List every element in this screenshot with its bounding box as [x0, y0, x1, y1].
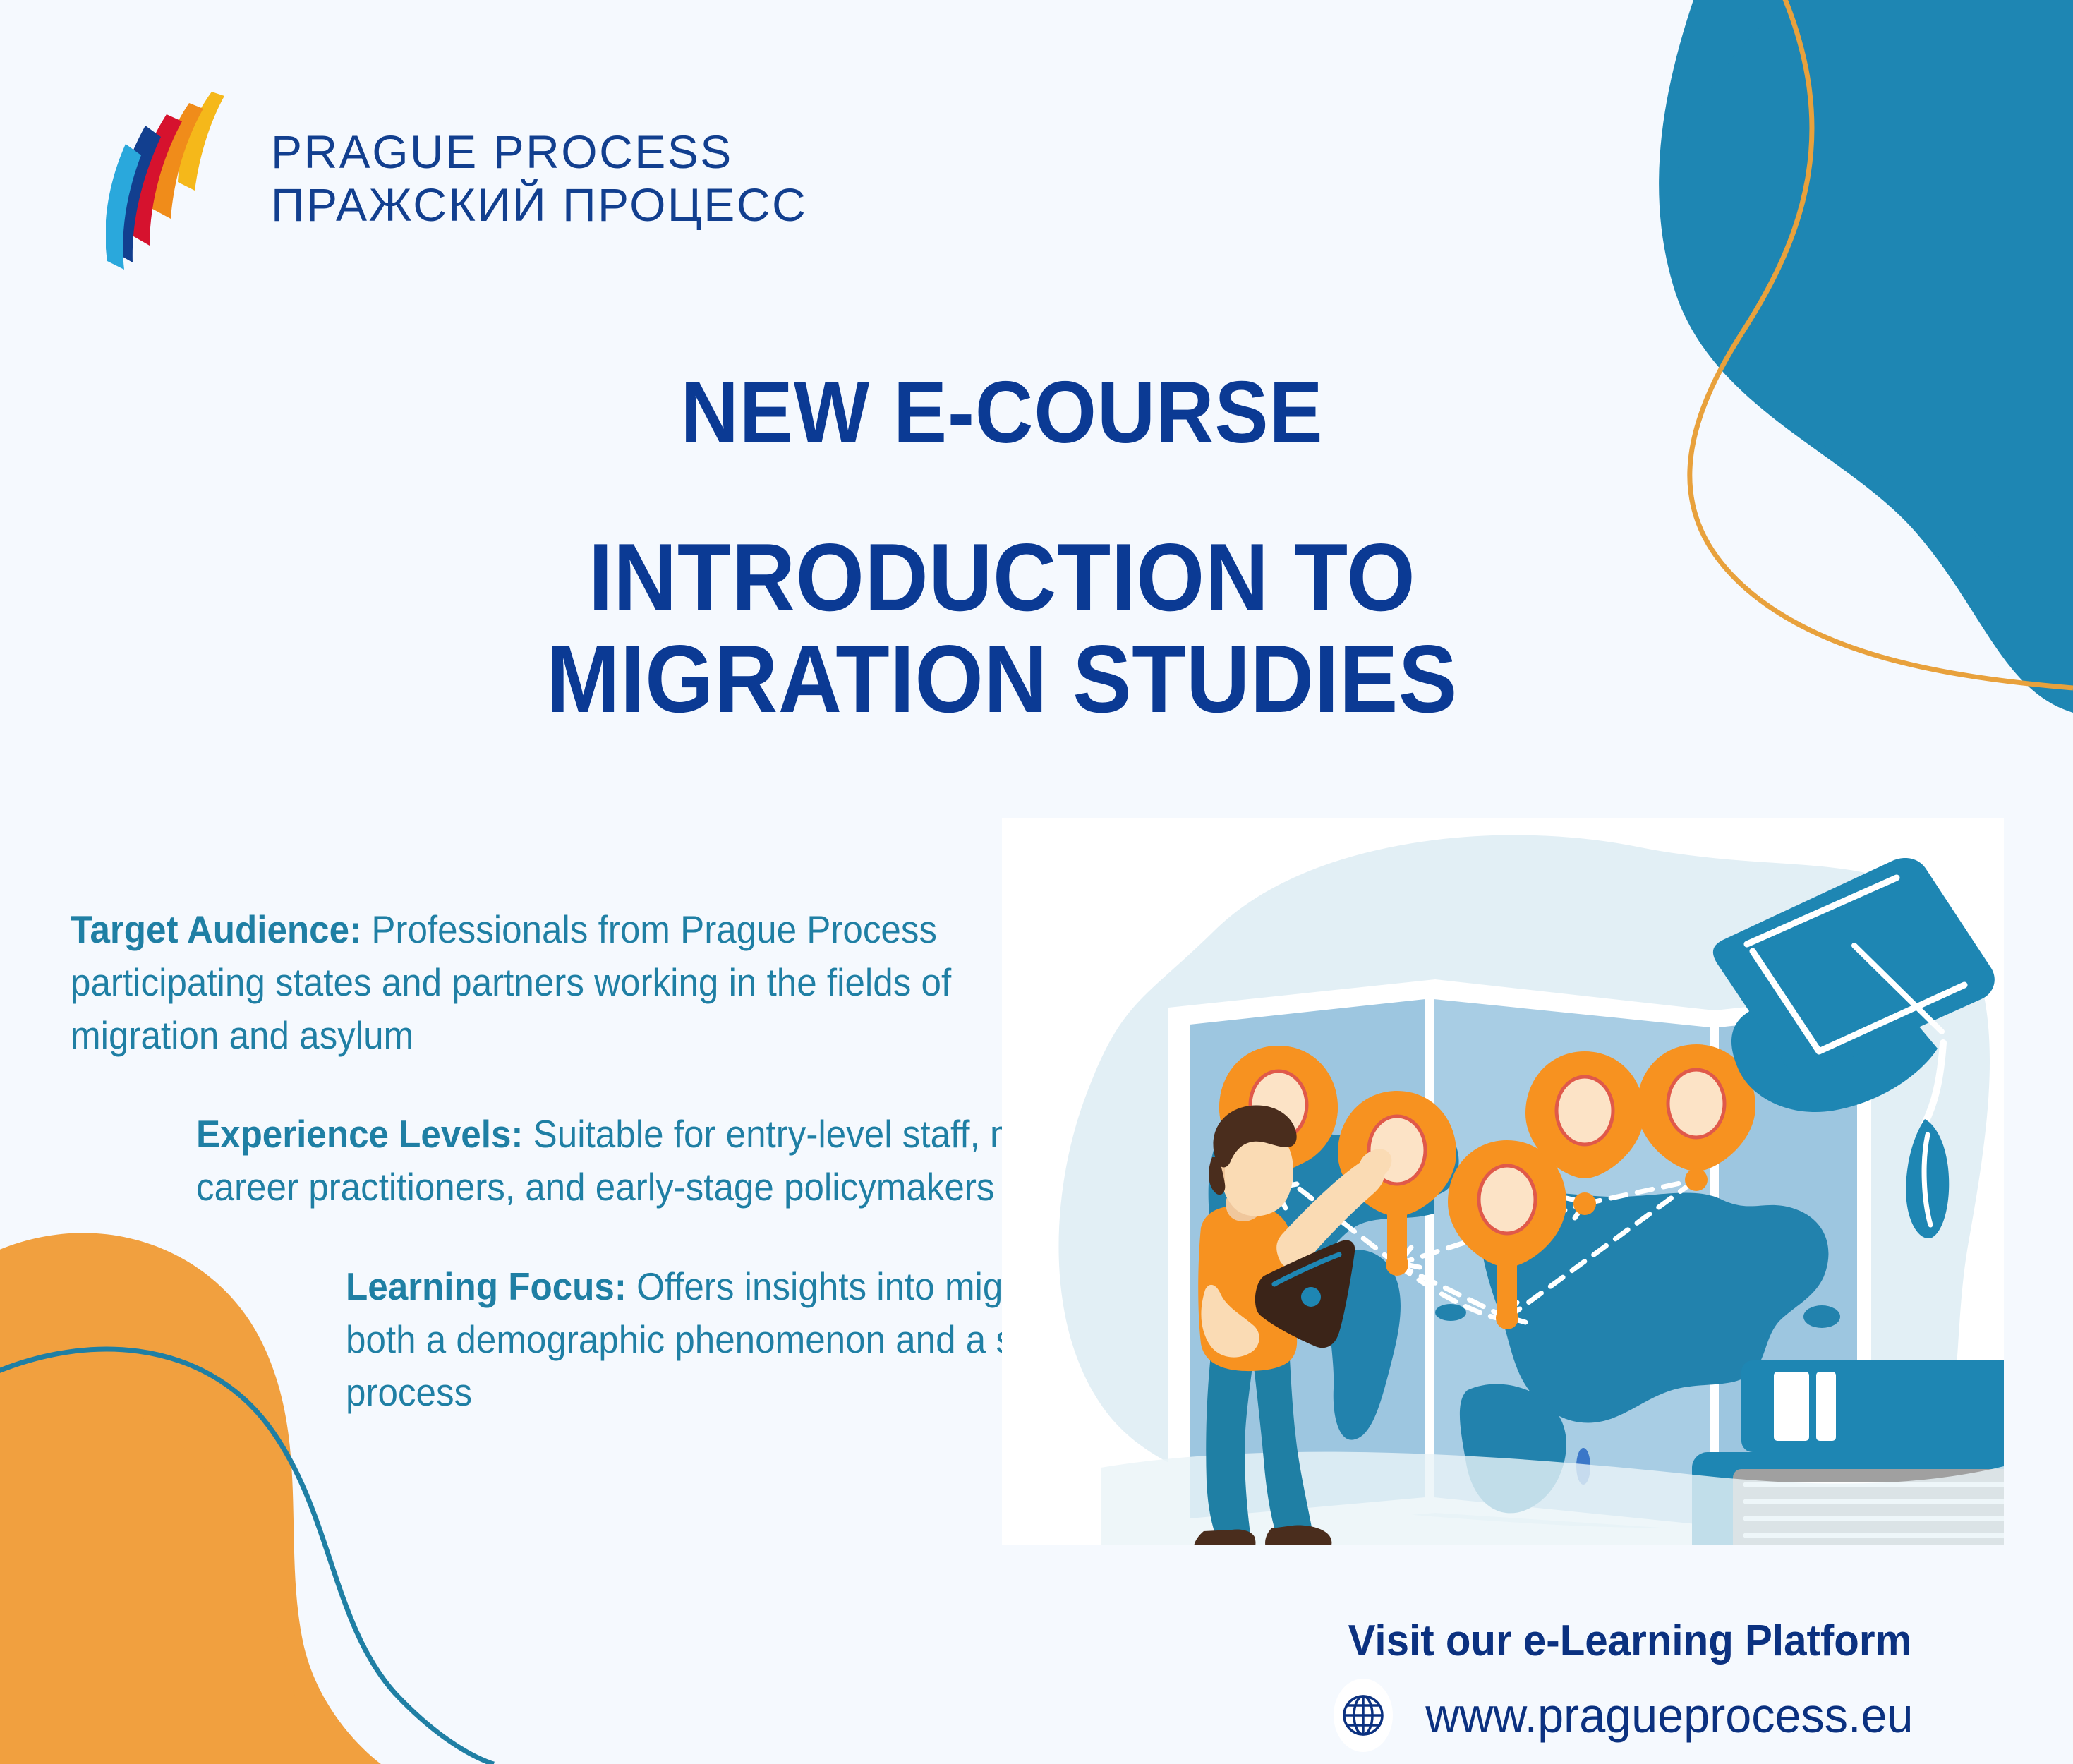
heading-spacer: [395, 459, 1609, 526]
heading-group: NEW E-COURSE INTRODUCTION TO MIGRATION S…: [395, 367, 1609, 730]
poster-canvas: PRAGUE PROCESS ПРАЖСКИЙ ПРОЦЕСС NEW E-CO…: [0, 0, 2073, 1764]
swoosh-flame-logo-icon: [106, 85, 247, 272]
course-title-line-2: MIGRATION STUDIES: [444, 628, 1560, 730]
orange-curve-top-right: [1690, 0, 2073, 688]
brand-logo: PRAGUE PROCESS ПРАЖСКИЙ ПРОЦЕСС: [106, 85, 807, 272]
globe-icon: [1334, 1679, 1393, 1752]
teal-blob-top-right: [1659, 0, 2073, 713]
logo-text-latin: PRAGUE PROCESS: [271, 126, 807, 179]
fact-label: Learning Focus:: [346, 1264, 627, 1308]
orange-blob-bottom-left-lobe: [0, 1389, 332, 1764]
footer-cta: Visit our e-Learning Platform www.prague…: [1256, 1616, 2004, 1752]
logo-text-cyrillic: ПРАЖСКИЙ ПРОЦЕСС: [271, 179, 807, 231]
fact-label: Target Audience:: [71, 907, 361, 951]
fact-item-target-audience: Target Audience: Professionals from Prag…: [71, 903, 1003, 1061]
teal-blob-top-right-lobe: [1671, 0, 2073, 635]
eyebrow-heading: NEW E-COURSE: [444, 367, 1560, 459]
footer-url-row[interactable]: www.pragueprocess.eu: [1256, 1679, 2004, 1752]
fact-label: Experience Levels:: [196, 1112, 523, 1156]
fact-item-experience-levels: Experience Levels: Suitable for entry-le…: [196, 1108, 1141, 1214]
footer-cta-text: Visit our e-Learning Platform: [1279, 1616, 1981, 1666]
course-title-line-1: INTRODUCTION TO: [444, 526, 1560, 628]
website-url[interactable]: www.pragueprocess.eu: [1425, 1687, 1913, 1744]
migration-map-illustration: [1002, 818, 2004, 1545]
